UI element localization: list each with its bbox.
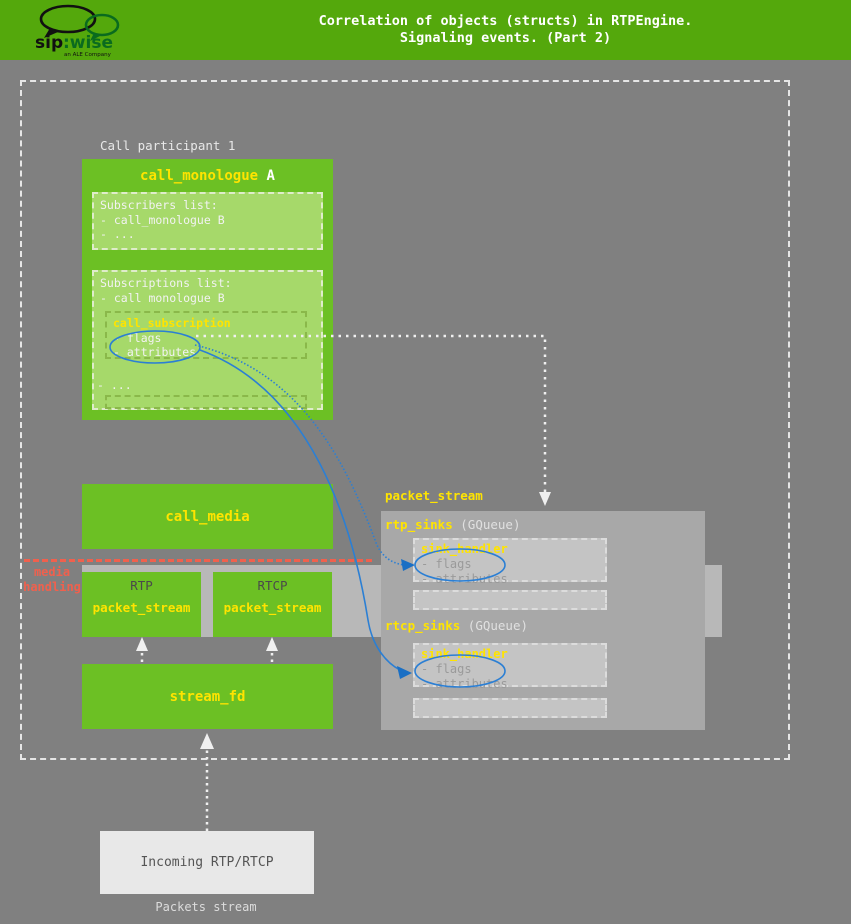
subscriptions-item-2: - ... — [97, 378, 132, 392]
rtcp-sink-handler-flags: - flags — [421, 662, 599, 677]
rtp-packet-stream-box: RTP packet_stream — [82, 572, 201, 637]
media-handling-divider — [24, 559, 372, 562]
subscriptions-item-1: - call monologue B — [100, 291, 315, 306]
rtcp-sink-handler-title: sink_handler — [421, 647, 599, 662]
rtcp-label: RTCP — [213, 578, 332, 593]
incoming-rtp-rtcp-box: Incoming RTP/RTCP — [100, 831, 314, 894]
page-header: sip :wise an ALE Company Correlation of … — [0, 0, 851, 60]
packets-stream-label: Packets stream — [0, 900, 412, 914]
subscribers-item-1: - call_monologue B — [100, 213, 315, 228]
subscribers-heading: Subscribers list: — [100, 198, 315, 213]
packet-stream-panel-title: packet_stream — [385, 488, 483, 503]
rtp-sinks-name: rtp_sinks — [385, 517, 453, 532]
call-subscription-placeholder-box — [105, 395, 307, 409]
call-participant-label: Call participant 1 — [100, 138, 235, 153]
rtp-sink-handler-flags: - flags — [421, 557, 599, 572]
subscriptions-heading: Subscriptions list: — [100, 276, 315, 291]
svg-text:sip: sip — [35, 33, 63, 53]
call-subscription-title: call_subscription — [113, 316, 299, 331]
call-monologue-title-suffix: A — [267, 168, 275, 184]
rtcp-sink-handler-placeholder-box — [413, 698, 607, 718]
rtcp-sink-handler-box: sink_handler - flags - attributes — [413, 643, 607, 687]
media-handling-label: media handling — [22, 565, 82, 595]
page-title-line2: Signaling events. (Part 2) — [400, 30, 611, 47]
rtcp-sink-handler-attributes: - attributes — [421, 677, 599, 692]
page-title-line1: Correlation of objects (structs) in RTPE… — [319, 13, 693, 30]
stream-fd-label: stream_fd — [170, 689, 246, 705]
call-subscription-flags: - flags — [113, 331, 299, 346]
call-subscription-box: call_subscription - flags - attributes — [105, 311, 307, 359]
rtp-sinks-type: (GQueue) — [460, 517, 520, 532]
rtp-sink-handler-placeholder-box — [413, 590, 607, 610]
subscribers-item-2: - ... — [100, 227, 315, 242]
subscribers-list-panel: Subscribers list: - call_monologue B - .… — [92, 192, 323, 250]
media-handling-label-line2: handling — [22, 580, 82, 595]
rtcp-sinks-type: (GQueue) — [468, 618, 528, 633]
call-media-label: call_media — [165, 509, 249, 525]
call-media-box: call_media — [82, 484, 333, 549]
svg-text:an ALE Company: an ALE Company — [64, 52, 112, 57]
rtp-sink-handler-title: sink_handler — [421, 542, 599, 557]
call-monologue-title-code: call_monologue — [140, 168, 258, 184]
rtp-sink-handler-box: sink_handler - flags - attributes — [413, 538, 607, 582]
rtp-struct-label: packet_stream — [82, 600, 201, 615]
rtp-label: RTP — [82, 578, 201, 593]
rtcp-sinks-label: rtcp_sinks (GQueue) — [385, 618, 528, 633]
stream-fd-box: stream_fd — [82, 664, 333, 729]
svg-text::wise: :wise — [63, 33, 113, 53]
rtp-sinks-label: rtp_sinks (GQueue) — [385, 517, 520, 532]
incoming-rtp-rtcp-label: Incoming RTP/RTCP — [140, 855, 273, 870]
sipwise-logo: sip :wise an ALE Company — [32, 3, 128, 57]
page-title: Correlation of objects (structs) in RTPE… — [160, 0, 851, 60]
media-handling-label-line1: media — [22, 565, 82, 580]
rtcp-packet-stream-box: RTCP packet_stream — [213, 572, 332, 637]
rtcp-sinks-name: rtcp_sinks — [385, 618, 460, 633]
call-monologue-title: call_monologue A — [82, 168, 333, 184]
call-subscription-attributes: - attributes — [113, 345, 299, 360]
rtp-sink-handler-attributes: - attributes — [421, 572, 599, 587]
rtcp-struct-label: packet_stream — [213, 600, 332, 615]
